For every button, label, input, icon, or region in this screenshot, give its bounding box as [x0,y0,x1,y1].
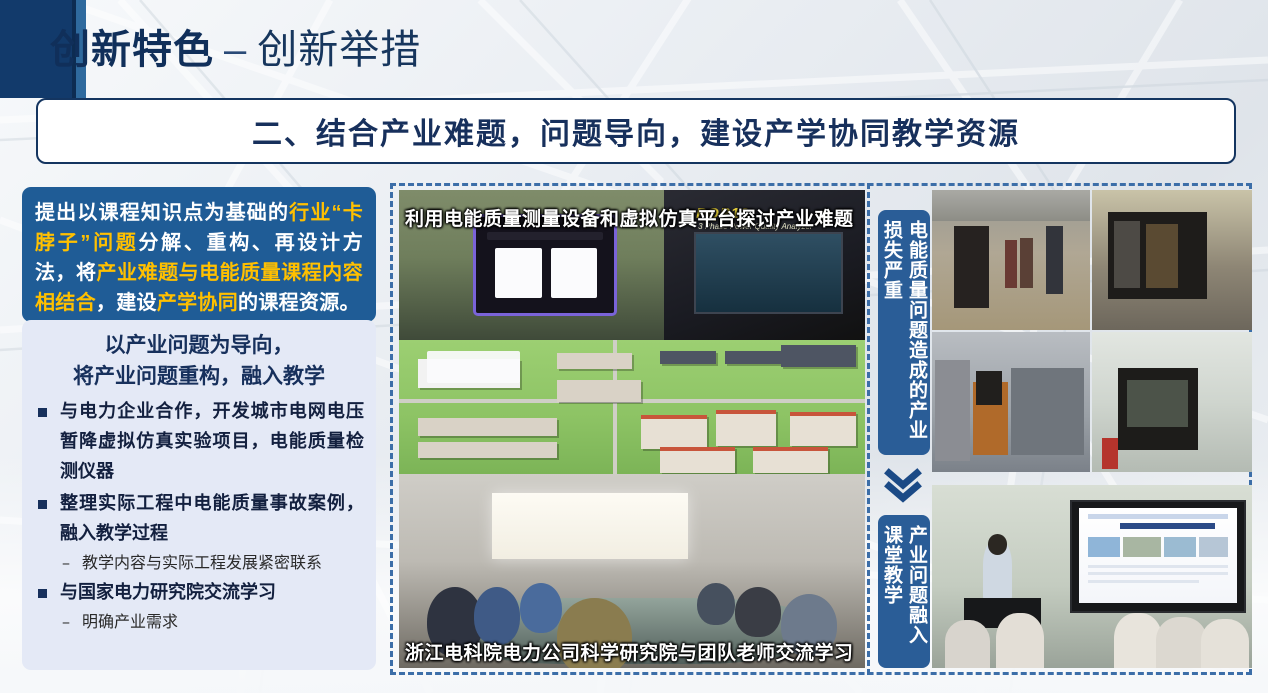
simulation-chart-right [551,248,598,298]
campus-building [418,442,558,458]
list-item-text: 与电力企业合作，开发城市电网电压暂降虚拟仿真实验项目，电能质量检测仪器 [60,401,364,482]
campus-building [557,380,641,401]
dash-bullet-icon: – [62,608,70,635]
page-title-sub: 创新举措 [257,28,421,72]
center-top-caption: 利用电能质量测量设备和虚拟仿真平台探讨产业难题 [399,204,865,231]
lead-line-1: 以产业问题为导向， [34,329,364,360]
campus-building [781,345,856,366]
char-mark [976,371,1001,405]
fire-extinguisher [1102,438,1118,469]
list-item: 整理实际工程中电能质量事故案例，融入教学过程 – 教学内容与实际工程发展紧密联系 [34,489,364,576]
firefighter [1005,240,1018,288]
lead-line-2: 将产业问题重构，融入教学 [34,360,364,391]
student-figure [1156,617,1207,668]
student-figure [1201,619,1249,668]
campus-building [725,351,781,364]
photo-burnt-transformer [1092,190,1252,330]
summary-seg-7: 的课程资源。 [238,292,360,314]
detail-light-card: 以产业问题为导向， 将产业问题重构，融入教学 与电力企业合作，开发城市电网电压暂… [22,320,376,670]
capacitor-bank [935,360,970,461]
page-title: 创新特色–创新举措 [50,24,421,76]
center-column: PQP10 3 Phase Power Quality Analyzer 利用电… [399,190,865,668]
equipment-chassis [1011,368,1084,455]
firefighter [1020,238,1033,288]
slide-image [1164,537,1196,558]
meeting-room-scene: 浙江电科院电力公司科学研究院与团队老师交流学习 [399,474,865,668]
square-bullet-icon [38,589,47,598]
firefighter [1046,226,1063,293]
sub-list-item-text: 明确产业需求 [82,612,178,631]
page-title-main: 创新特色 [50,28,214,72]
photo-burnt-inverter [932,332,1090,472]
campus-building [641,415,706,448]
bullet-list: 与电力企业合作，开发城市电网电压暂降虚拟仿真实验项目，电能质量检测仪器 整理实际… [34,397,364,635]
summary-blue-card: 提出以课程知识点为基础的行业“卡脖子”问题分解、重构、再设计方法，将产业难题与电… [22,187,376,322]
photo-meeting-room: 浙江电科院电力公司科学研究院与团队老师交流学习 [399,474,865,668]
charred-cabinet [954,226,989,307]
smoke-haze [932,190,1090,221]
vertical-label-industry-loss: 电能质量问题造成的产业损失严重 [878,210,930,455]
content-vertical-divider [867,183,870,675]
analyzer-screen [694,232,843,314]
summary-seg-5: ，建设 [96,292,157,314]
meeting-attendee [697,583,734,626]
campus-building [753,447,828,472]
transformer-coil [1114,221,1140,288]
student-figure [996,613,1044,668]
meeting-attendee [735,587,782,637]
vertical-label-classroom-integration: 产业问题融入课堂教学 [878,515,930,668]
dash-bullet-icon: – [62,549,70,576]
campus-building [716,410,777,446]
campus-model-scene [399,340,865,474]
slide-text-line [1088,580,1199,583]
section-banner-text: 二、结合产业难题，问题导向，建设产学协同教学资源 [252,109,1020,153]
list-item-text: 整理实际工程中电能质量事故案例，融入教学过程 [60,493,364,544]
sub-list-item-text: 教学内容与实际工程发展紧密联系 [82,553,322,572]
sub-list-item: – 明确产业需求 [60,608,364,635]
classroom-slide [1079,508,1238,602]
summary-paragraph: 提出以课程知识点为基础的行业“卡脖子”问题分解、重构、再设计方法，将产业难题与电… [35,198,363,318]
campus-building [660,447,735,472]
center-bottom-caption: 浙江电科院电力公司科学研究院与团队老师交流学习 [399,636,865,668]
slide-highlight-bar [1120,523,1215,529]
damage-photo-grid [932,190,1252,477]
inverter-scene [932,332,1090,472]
simulation-toolbar [487,232,603,240]
slide-image [1123,537,1161,558]
vertical-label-industry-loss-text: 电能质量问题造成的产业损失严重 [879,220,929,445]
campus-building [418,418,558,437]
vertical-label-classroom-integration-text: 产业问题融入课堂教学 [879,525,929,658]
switchgear-scene [1092,332,1252,472]
left-column: 提出以课程知识点为基础的行业“卡脖子”问题分解、重构、再设计方法，将产业难题与电… [22,187,376,670]
square-bullet-icon [38,500,47,509]
desert-site-scene [932,190,1090,330]
teacher-head [988,534,1007,554]
sub-list-item: – 教学内容与实际工程发展紧密联系 [60,549,364,576]
meeting-projection-screen [492,493,688,559]
campus-building [790,412,855,445]
meeting-attendee [520,583,562,633]
list-item-text: 与国家电力研究院交流学习 [60,582,276,603]
summary-seg-6-highlight: 产学协同 [157,292,238,314]
breaker-assembly [1127,380,1188,428]
slide-image [1199,537,1228,558]
transformer-scene [1092,190,1252,330]
list-item: 与国家电力研究院交流学习 – 明确产业需求 [34,578,364,635]
list-item: 与电力企业合作，开发城市电网电压暂降虚拟仿真实验项目，电能质量检测仪器 [34,397,364,487]
double-chevron-down-icon [881,462,925,506]
campus-building [557,353,632,369]
section-banner: 二、结合产业难题，问题导向，建设产学协同教学资源 [36,98,1236,164]
campus-overlay-chart [427,351,520,383]
photo-classroom-teaching [932,485,1252,668]
classroom-smartboard [1070,500,1247,614]
summary-seg-1: 提出以课程知识点为基础的 [35,202,289,224]
student-figure [945,620,990,668]
slide-image [1088,537,1120,558]
right-column: 电能质量问题造成的产业损失严重 产业问题融入课堂教学 [876,190,1252,668]
photo-campus-3d-model [399,340,865,474]
campus-building [660,351,716,364]
slide-title-bar [1088,514,1228,519]
page-title-separator: – [224,28,247,72]
photo-burnt-cabinet-desert [932,190,1090,330]
sub-list: – 明确产业需求 [60,608,364,635]
square-bullet-icon [38,408,47,417]
transformer-coil [1146,224,1178,288]
photo-burnt-switchgear [1092,332,1252,472]
simulation-chart-left [495,248,542,298]
slide-text-line [1088,565,1228,568]
slide-text-line [1088,572,1228,575]
sub-list: – 教学内容与实际工程发展紧密联系 [60,549,364,576]
